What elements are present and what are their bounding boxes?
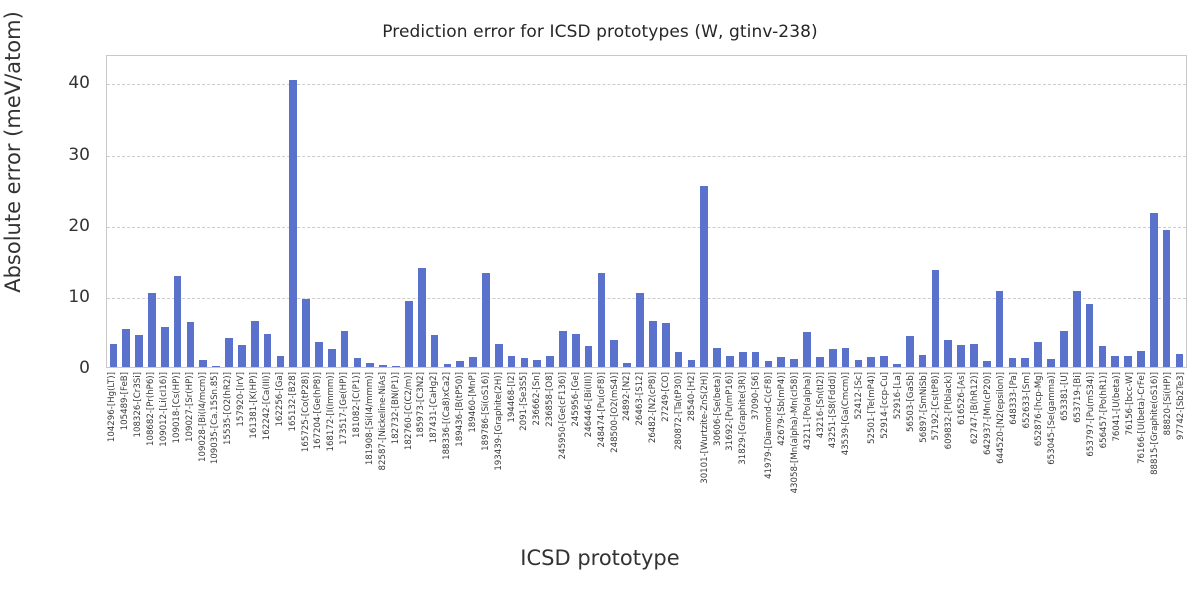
bar[interactable] xyxy=(726,356,734,367)
x-tick-slot: 248500-[O2(mS4)] xyxy=(608,372,621,532)
x-tick-slot: 280872-[Ta(tP30)] xyxy=(673,372,686,532)
x-tick-label: 88815-[Graphite(oS16)] xyxy=(1151,372,1160,475)
x-tick-label: 24892-[N2] xyxy=(623,372,632,421)
bar-slot xyxy=(146,56,159,367)
x-tick-label: 187431-[CaHg2] xyxy=(430,372,439,443)
bar-slot xyxy=(646,56,659,367)
x-tick-slot: 42679-[Sb(mP4)] xyxy=(776,372,789,532)
bar-slot xyxy=(608,56,621,367)
bar[interactable] xyxy=(533,360,541,367)
x-tick-label: 26482-[N2(cP8)] xyxy=(649,372,658,443)
x-tick-label: 165132-[B28] xyxy=(289,372,298,431)
x-tick-label: 652633-[Sm] xyxy=(1023,372,1032,428)
x-tick-label: 43539-[Ga(Cmcm)] xyxy=(842,372,851,455)
bar-series xyxy=(107,56,1186,367)
x-tick-slot: 193439-[Graphite(2H)] xyxy=(492,372,505,532)
bar[interactable] xyxy=(765,361,773,367)
bar[interactable] xyxy=(1111,356,1119,367)
bar-slot xyxy=(557,56,570,367)
bar[interactable] xyxy=(932,270,940,367)
x-tick-label: 97742-[Sb2Te3] xyxy=(1177,372,1186,440)
x-tick-label: 56897-[SmNiSb] xyxy=(920,372,929,443)
bar-slot xyxy=(287,56,300,367)
x-tick-label: 109028-[Bi(I4/mcm)] xyxy=(199,372,208,462)
x-tick-slot: 2091-[Se3S5] xyxy=(518,372,531,532)
x-tick-label: 43251-[S8(Fddd)] xyxy=(829,372,838,448)
bar[interactable] xyxy=(289,80,297,367)
bar-slot xyxy=(492,56,505,367)
x-tick-slot: 43216-[Sn(tI2)] xyxy=(814,372,827,532)
x-tick-slot: 648333-[Pa] xyxy=(1007,372,1020,532)
x-tick-label: 43058-[Mn(alpha)-Mn(cI58)] xyxy=(791,372,800,493)
x-tick-slot: 76166-[U(beta)-CrFe] xyxy=(1136,372,1149,532)
x-tick-slot: 168172-[I(Immm)] xyxy=(325,372,338,532)
x-tick-slot: 108326-[Cr3Si] xyxy=(132,372,145,532)
bar-slot xyxy=(1147,56,1160,367)
bar[interactable] xyxy=(1137,351,1145,367)
plot-area xyxy=(106,55,1187,368)
bar[interactable] xyxy=(418,268,426,367)
x-tick-label: 56503-[GaSb] xyxy=(907,372,916,432)
x-tick-label: 245956-[Ge] xyxy=(572,372,581,427)
x-tick-label: 181082-[C(P1)] xyxy=(353,372,362,438)
x-tick-label: 109035-[Ca.15Sn.85] xyxy=(211,372,220,464)
x-tick-slot: 236858-[O8] xyxy=(544,372,557,532)
y-tick-label: 30 xyxy=(0,145,90,165)
x-tick-slot: 30606-[Se(beta)] xyxy=(711,372,724,532)
bar[interactable] xyxy=(495,344,503,367)
x-tick-slot: 43211-[Po(alpha)] xyxy=(801,372,814,532)
x-tick-label: 57192-[Cs(tP8)] xyxy=(932,372,941,440)
bar-slot xyxy=(428,56,441,367)
bar-slot xyxy=(415,56,428,367)
x-tick-slot: 656457-[Po(hR1)] xyxy=(1097,372,1110,532)
bar[interactable] xyxy=(328,349,336,367)
x-tick-label: 644520-[N2(epsilon)] xyxy=(997,372,1006,464)
bar[interactable] xyxy=(148,293,156,367)
x-tick-slot: 43251-[S8(Fddd)] xyxy=(827,372,840,532)
x-tick-slot: 248474-[Pu(oF8)] xyxy=(595,372,608,532)
bar[interactable] xyxy=(521,358,529,367)
bar[interactable] xyxy=(662,323,670,367)
bar-slot xyxy=(595,56,608,367)
x-tick-label: 173517-[Ge(HP)] xyxy=(340,372,349,445)
x-tick-label: 82587-[Nickeline-NiAs] xyxy=(379,372,388,470)
x-tick-slot: 57192-[Cs(tP8)] xyxy=(930,372,943,532)
bar[interactable] xyxy=(1073,291,1081,367)
bar-slot xyxy=(377,56,390,367)
bar[interactable] xyxy=(392,366,400,367)
x-tick-slot: 76156-[bcc-W] xyxy=(1123,372,1136,532)
x-tick-label: 162242-[Ca(III)] xyxy=(263,372,272,440)
bar[interactable] xyxy=(315,342,323,367)
x-tick-label: 88820-[Si(HP)] xyxy=(1164,372,1173,435)
bar[interactable] xyxy=(1047,359,1055,367)
x-tick-slot: 245950-[Ge(cF136)] xyxy=(557,372,570,532)
x-tick-slot: 52501-[Te(mP4)] xyxy=(866,372,879,532)
bar[interactable] xyxy=(1099,346,1107,367)
bar[interactable] xyxy=(354,358,362,367)
x-tick-label: 194468-[I2] xyxy=(508,372,517,423)
x-tick-label: 653719-[Bi] xyxy=(1074,372,1083,423)
bar-slot xyxy=(1160,56,1173,367)
x-tick-slot: 167204-[Ge(hP8)] xyxy=(312,372,325,532)
x-tick-slot: 43539-[Ga(Cmcm)] xyxy=(840,372,853,532)
bar-slot xyxy=(479,56,492,367)
x-tick-slot: 82587-[Nickeline-NiAs] xyxy=(376,372,389,532)
x-tick-label: 246446-[Bi(III)] xyxy=(585,372,594,437)
bar-slot xyxy=(1122,56,1135,367)
x-tick-slot: 652633-[Sm] xyxy=(1020,372,1033,532)
x-tick-label: 248500-[O2(mS4)] xyxy=(611,372,620,453)
bar[interactable] xyxy=(1163,230,1171,367)
bar-slot xyxy=(749,56,762,367)
x-tick-slot: 109027-[Sr(HP)] xyxy=(183,372,196,532)
x-tick-label: 167204-[Ge(hP8)] xyxy=(314,372,323,449)
bar[interactable] xyxy=(752,352,760,367)
bar[interactable] xyxy=(212,366,220,367)
x-tick-slot: 30101-[Wurtzite-ZnS(2H)] xyxy=(698,372,711,532)
x-tick-slot: 52412-[Sc] xyxy=(853,372,866,532)
x-tick-slot: 653045-[Se(gamma)] xyxy=(1046,372,1059,532)
bar[interactable] xyxy=(341,331,349,367)
bar[interactable] xyxy=(277,356,285,367)
bar[interactable] xyxy=(585,346,593,367)
x-tick-label: 652876-[hcp-Mg] xyxy=(1035,372,1044,446)
x-tick-label: 109027-[Sr(HP)] xyxy=(186,372,195,442)
bar[interactable] xyxy=(1176,354,1184,367)
x-tick-slot: 97742-[Sb2Te3] xyxy=(1175,372,1188,532)
bar[interactable] xyxy=(1086,304,1094,367)
bar[interactable] xyxy=(636,293,644,367)
bar[interactable] xyxy=(379,365,387,367)
bar[interactable] xyxy=(867,357,875,367)
bar[interactable] xyxy=(623,363,631,367)
bar-slot xyxy=(672,56,685,367)
x-tick-slot: 76041-[U(beta)] xyxy=(1110,372,1123,532)
bar-slot xyxy=(1173,56,1186,367)
bar[interactable] xyxy=(469,357,477,367)
bar-slot xyxy=(685,56,698,367)
x-tick-slot: 52916-[La] xyxy=(891,372,904,532)
x-tick-label: 168172-[I(Immm)] xyxy=(327,372,336,452)
bar-slot xyxy=(235,56,248,367)
bar[interactable] xyxy=(855,360,863,367)
bar[interactable] xyxy=(1124,356,1132,367)
x-tick-slot: 105489-[FeB] xyxy=(119,372,132,532)
x-tick-slot: 43058-[Mn(alpha)-Mn(cI58)] xyxy=(788,372,801,532)
bar-slot xyxy=(274,56,287,367)
bar-slot xyxy=(736,56,749,367)
bar-slot xyxy=(724,56,737,367)
bar-slot xyxy=(1019,56,1032,367)
bar-slot xyxy=(120,56,133,367)
x-tick-slot: 109035-[Ca.15Sn.85] xyxy=(209,372,222,532)
x-tick-label: 76166-[U(beta)-CrFe] xyxy=(1138,372,1147,464)
x-tick-label: 109018-[Cs(HP)] xyxy=(173,372,182,443)
bar[interactable] xyxy=(675,352,683,367)
x-tick-slot: 109018-[Cs(HP)] xyxy=(170,372,183,532)
x-tick-slot: 182732-[BN(P1)] xyxy=(389,372,402,532)
x-tick-label: 182732-[BN(P1)] xyxy=(392,372,401,444)
y-axis-tick-labels: 010203040 xyxy=(0,55,100,368)
x-tick-label: 76156-[bcc-W] xyxy=(1126,372,1135,435)
x-tick-slot: 182760-[C(C2/m)] xyxy=(402,372,415,532)
x-tick-slot: 27249-[CO] xyxy=(660,372,673,532)
bar-slot xyxy=(916,56,929,367)
x-tick-slot: 181908-[Si(I4/mmm)] xyxy=(364,372,377,532)
bar-slot xyxy=(197,56,210,367)
x-tick-slot: 162256-[Ga] xyxy=(273,372,286,532)
x-tick-label: 43211-[Po(alpha)] xyxy=(804,372,813,450)
x-tick-slot: 188336-[(Ca8)xCa2] xyxy=(441,372,454,532)
bar[interactable] xyxy=(880,356,888,367)
x-tick-slot: 246446-[Bi(III)] xyxy=(582,372,595,532)
bar[interactable] xyxy=(649,321,657,367)
bar-slot xyxy=(454,56,467,367)
bar-slot xyxy=(878,56,891,367)
x-tick-slot: 31829-[Graphite(3R)] xyxy=(737,372,750,532)
bar-slot xyxy=(839,56,852,367)
x-tick-slot: 161381-[K(HP)] xyxy=(248,372,261,532)
bar[interactable] xyxy=(829,349,837,367)
bar[interactable] xyxy=(225,338,233,367)
bar-slot xyxy=(852,56,865,367)
bar-slot xyxy=(1083,56,1096,367)
x-tick-slot: 52914-[ccp-Cu] xyxy=(879,372,892,532)
bar[interactable] xyxy=(983,361,991,367)
y-tick-label: 0 xyxy=(0,358,90,378)
x-tick-label: 105489-[FeB] xyxy=(121,372,130,430)
bar-slot xyxy=(313,56,326,367)
bar-slot xyxy=(929,56,942,367)
bar[interactable] xyxy=(161,327,169,367)
bar[interactable] xyxy=(546,356,554,367)
bar[interactable] xyxy=(122,329,130,367)
x-tick-label: 236662-[Sn] xyxy=(533,372,542,426)
bar-slot xyxy=(1032,56,1045,367)
bar-slot xyxy=(364,56,377,367)
bar[interactable] xyxy=(996,291,1004,367)
bar[interactable] xyxy=(251,321,259,367)
x-tick-label: 37090-[S6] xyxy=(752,372,761,420)
x-tick-label: 245950-[Ge(cF136)] xyxy=(559,372,568,459)
bar-slot xyxy=(582,56,595,367)
bar-slot xyxy=(955,56,968,367)
bar-slot xyxy=(569,56,582,367)
bar[interactable] xyxy=(842,348,850,367)
bar-slot xyxy=(402,56,415,367)
bar[interactable] xyxy=(893,364,901,367)
bar[interactable] xyxy=(816,357,824,367)
x-tick-slot: 109028-[Bi(I4/mcm)] xyxy=(196,372,209,532)
bar[interactable] xyxy=(405,301,413,367)
bar[interactable] xyxy=(957,345,965,367)
bar[interactable] xyxy=(174,276,182,367)
bar-slot xyxy=(968,56,981,367)
x-tick-label: 653381-[U] xyxy=(1061,372,1070,421)
bar[interactable] xyxy=(1150,213,1158,367)
x-tick-slot: 653719-[Bi] xyxy=(1072,372,1085,532)
bar-slot xyxy=(711,56,724,367)
bar[interactable] xyxy=(688,360,696,367)
bar[interactable] xyxy=(700,186,708,367)
x-tick-label: 189786-[Si(oS16)] xyxy=(482,372,491,451)
bar[interactable] xyxy=(906,336,914,367)
x-axis-tick-labels: 104296-[Hg(LT)]105489-[FeB]108326-[Cr3Si… xyxy=(106,372,1187,532)
x-tick-slot: 104296-[Hg(LT)] xyxy=(106,372,119,532)
bar-slot xyxy=(1135,56,1148,367)
x-tick-slot: 236662-[Sn] xyxy=(531,372,544,532)
x-tick-slot: 609832-[P(black)] xyxy=(943,372,956,532)
bar-slot xyxy=(325,56,338,367)
x-tick-label: 2091-[Se3S5] xyxy=(520,372,529,431)
x-tick-slot: 109012-[Li(cI16)] xyxy=(158,372,171,532)
x-tick-label: 52412-[Sc] xyxy=(855,372,864,419)
bar-slot xyxy=(1070,56,1083,367)
bar[interactable] xyxy=(135,335,143,367)
bar-slot xyxy=(518,56,531,367)
x-tick-slot: 642937-[Mn(cP20)] xyxy=(982,372,995,532)
x-tick-label: 189460-[MnP] xyxy=(469,372,478,433)
x-tick-slot: 157920-[IrV] xyxy=(235,372,248,532)
bar[interactable] xyxy=(777,357,785,367)
x-tick-slot: 194468-[I2] xyxy=(505,372,518,532)
bar[interactable] xyxy=(508,356,516,367)
bar[interactable] xyxy=(444,364,452,367)
bar[interactable] xyxy=(713,348,721,367)
x-tick-slot: 173517-[Ge(HP)] xyxy=(338,372,351,532)
bar[interactable] xyxy=(1021,358,1029,367)
bar[interactable] xyxy=(264,334,272,367)
x-tick-label: 653045-[Se(gamma)] xyxy=(1048,372,1057,465)
bar-slot xyxy=(210,56,223,367)
x-tick-label: 181908-[Si(I4/mmm)] xyxy=(366,372,375,465)
bar[interactable] xyxy=(598,273,606,367)
x-tick-label: 165725-[Co(tP28)] xyxy=(302,372,311,452)
bar-slot xyxy=(505,56,518,367)
x-tick-slot: 653797-[Pu(mS34)] xyxy=(1085,372,1098,532)
bar[interactable] xyxy=(366,363,374,367)
bar-slot xyxy=(1045,56,1058,367)
bar-slot xyxy=(531,56,544,367)
bar-slot xyxy=(865,56,878,367)
x-tick-label: 189436-[B(tP50)] xyxy=(456,372,465,447)
bar[interactable] xyxy=(739,352,747,367)
bar[interactable] xyxy=(803,332,811,367)
bar-slot xyxy=(184,56,197,367)
bar[interactable] xyxy=(431,335,439,367)
bar[interactable] xyxy=(1009,358,1017,367)
bar[interactable] xyxy=(970,344,978,367)
x-tick-slot: 26463-[S12] xyxy=(634,372,647,532)
bar[interactable] xyxy=(572,334,580,367)
bar[interactable] xyxy=(187,322,195,367)
x-tick-label: 31829-[Graphite(3R)] xyxy=(739,372,748,465)
x-tick-label: 162256-[Ga] xyxy=(276,372,285,427)
chart-title: Prediction error for ICSD prototypes (W,… xyxy=(0,22,1200,42)
x-tick-label: 30101-[Wurtzite-ZnS(2H)] xyxy=(701,372,710,484)
bar-slot xyxy=(1057,56,1070,367)
bar[interactable] xyxy=(944,340,952,367)
bar[interactable] xyxy=(238,345,246,367)
x-tick-slot: 652876-[hcp-Mg] xyxy=(1033,372,1046,532)
x-tick-label: 42679-[Sb(mP4)] xyxy=(778,372,787,446)
x-tick-label: 248474-[Pu(oF8)] xyxy=(598,372,607,447)
bar[interactable] xyxy=(199,360,207,367)
x-tick-label: 52914-[ccp-Cu] xyxy=(881,372,890,439)
bar-slot xyxy=(698,56,711,367)
x-tick-slot: 108682-[Pr(hP6)] xyxy=(145,372,158,532)
bar-slot xyxy=(1006,56,1019,367)
x-tick-label: 161381-[K(HP)] xyxy=(250,372,259,439)
x-tick-label: 236858-[O8] xyxy=(546,372,555,427)
bar[interactable] xyxy=(790,359,798,367)
x-tick-label: 193439-[Graphite(2H)] xyxy=(495,372,504,471)
x-tick-slot: 24892-[N2] xyxy=(621,372,634,532)
bar[interactable] xyxy=(110,344,118,367)
bar-slot xyxy=(1109,56,1122,367)
y-tick-label: 40 xyxy=(0,73,90,93)
x-tick-label: 157920-[IrV] xyxy=(237,372,246,427)
x-tick-label: 26463-[S12] xyxy=(636,372,645,426)
bar[interactable] xyxy=(559,331,567,367)
x-tick-label: 609832-[P(black)] xyxy=(945,372,954,449)
x-tick-slot: 56503-[GaSb] xyxy=(904,372,917,532)
bar-slot xyxy=(903,56,916,367)
bar-slot xyxy=(338,56,351,367)
x-tick-label: 28540-[H2] xyxy=(688,372,697,421)
bar-slot xyxy=(942,56,955,367)
bar[interactable] xyxy=(1034,342,1042,367)
bar-slot xyxy=(223,56,236,367)
x-tick-label: 108682-[Pr(hP6)] xyxy=(147,372,156,446)
bar-slot xyxy=(171,56,184,367)
x-tick-label: 52916-[La] xyxy=(894,372,903,419)
bar-slot xyxy=(107,56,120,367)
x-tick-slot: 189460-[MnP] xyxy=(467,372,480,532)
x-tick-slot: 181082-[C(P1)] xyxy=(351,372,364,532)
x-tick-slot: 653381-[U] xyxy=(1059,372,1072,532)
x-tick-label: 76041-[U(beta)] xyxy=(1113,372,1122,442)
x-tick-label: 52501-[Te(mP4)] xyxy=(868,372,877,444)
bar-slot xyxy=(351,56,364,367)
bar-slot xyxy=(801,56,814,367)
bar[interactable] xyxy=(482,273,490,367)
bar[interactable] xyxy=(302,299,310,367)
x-tick-slot: 26482-[N2(cP8)] xyxy=(647,372,660,532)
bar[interactable] xyxy=(610,340,618,367)
bar-chart-figure: Prediction error for ICSD prototypes (W,… xyxy=(0,0,1200,600)
x-tick-label: 648333-[Pa] xyxy=(1010,372,1019,425)
bar[interactable] xyxy=(1060,331,1068,367)
y-tick-label: 20 xyxy=(0,216,90,236)
x-tick-label: 43216-[Sn(tI2)] xyxy=(817,372,826,438)
bar-slot xyxy=(890,56,903,367)
x-tick-slot: 165132-[B28] xyxy=(286,372,299,532)
x-tick-label: 188336-[(Ca8)xCa2] xyxy=(443,372,452,460)
x-tick-label: 108326-[Cr3Si] xyxy=(134,372,143,437)
x-tick-label: 104296-[Hg(LT)] xyxy=(108,372,117,442)
x-tick-slot: 37090-[S6] xyxy=(750,372,763,532)
bar[interactable] xyxy=(919,355,927,367)
bar-slot xyxy=(980,56,993,367)
x-tick-label: 182760-[C(C2/m)] xyxy=(405,372,414,450)
x-tick-slot: 189436-[B(tP50)] xyxy=(454,372,467,532)
bar[interactable] xyxy=(456,361,464,367)
bar-slot xyxy=(826,56,839,367)
x-tick-label: 616526-[As] xyxy=(958,372,967,425)
